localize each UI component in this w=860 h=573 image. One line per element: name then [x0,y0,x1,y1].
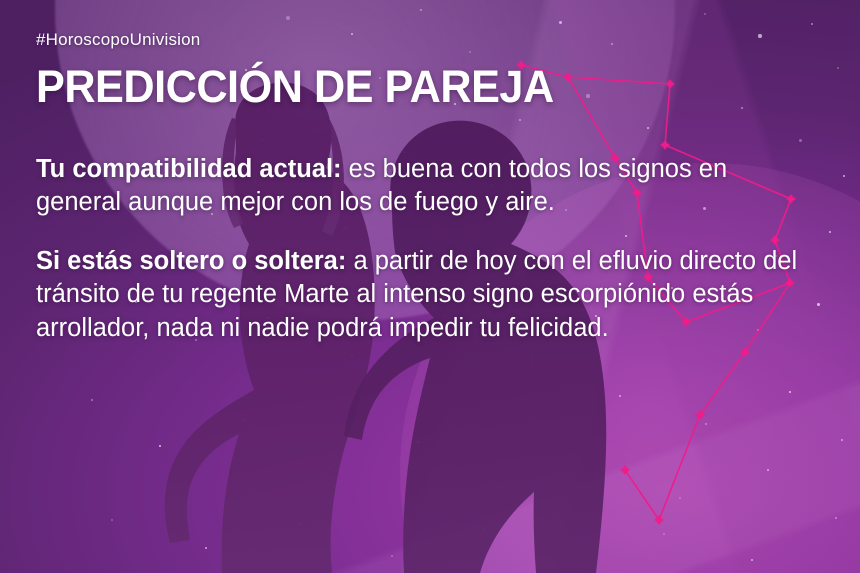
paragraph-single: Si estás soltero o soltera: a partir de … [36,245,806,344]
page-title: PREDICCIÓN DE PAREJA [36,64,794,109]
card-content: #HoroscopoUnivision PREDICCIÓN DE PAREJA… [0,0,860,573]
paragraph-2-lead: Si estás soltero o soltera: [36,247,346,275]
horoscope-card: #HoroscopoUnivision PREDICCIÓN DE PAREJA… [0,0,860,573]
paragraph-1-lead: Tu compatibilidad actual: [36,155,342,183]
paragraph-compatibility: Tu compatibilidad actual: es buena con t… [36,153,806,219]
hashtag-label: #HoroscopoUnivision [36,30,826,50]
